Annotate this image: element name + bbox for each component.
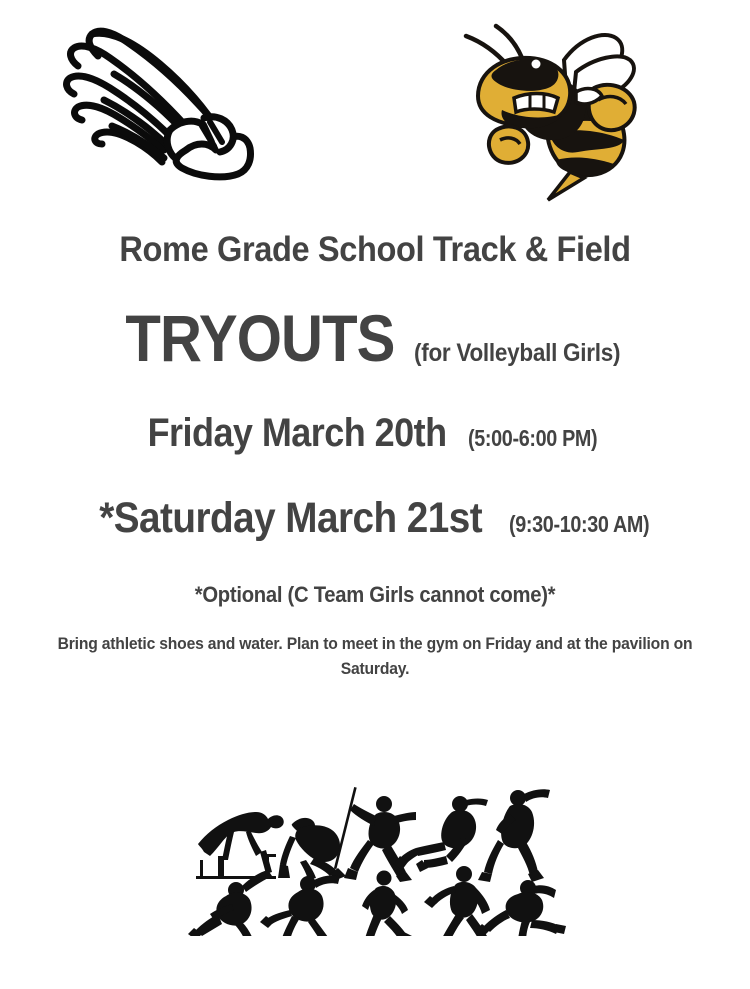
winged-foot-icon bbox=[52, 22, 288, 182]
athlete-silhouettes bbox=[188, 768, 568, 936]
hornet-mascot-icon bbox=[444, 14, 660, 204]
date-label-saturday: *Saturday March 21st bbox=[100, 497, 483, 540]
silhouette-sprinter-drive bbox=[260, 875, 340, 936]
date-entry-saturday: *Saturday March 21st(9:30-10:30 AM) bbox=[0, 497, 750, 540]
flyer-text-block: Rome Grade School Track & Field TRYOUTS(… bbox=[0, 232, 750, 683]
instructions-note: Bring athletic shoes and water. Plan to … bbox=[47, 632, 703, 683]
tryouts-heading: TRYOUTS(for Volleyball Girls) bbox=[0, 305, 750, 371]
silhouette-sprinter-start bbox=[188, 870, 272, 936]
silhouette-long-jumper bbox=[394, 796, 488, 872]
date-time-friday: (5:00-6:00 PM) bbox=[468, 427, 597, 450]
silhouette-long-jump-landing bbox=[476, 880, 566, 936]
silhouette-hurdler bbox=[196, 812, 284, 879]
silhouette-shot-putter bbox=[478, 789, 550, 882]
logo-row bbox=[0, 0, 750, 210]
flyer-page: Rome Grade School Track & Field TRYOUTS(… bbox=[0, 0, 750, 989]
page-title: Rome Grade School Track & Field bbox=[26, 232, 724, 269]
date-label-friday: Friday March 20th bbox=[148, 413, 447, 453]
tryouts-label: TRYOUTS bbox=[125, 305, 394, 371]
tryouts-qualifier: (for Volleyball Girls) bbox=[414, 341, 620, 366]
date-entry-friday: Friday March 20th(5:00-6:00 PM) bbox=[0, 413, 750, 453]
silhouette-crouch-start bbox=[278, 818, 346, 880]
optional-note: *Optional (C Team Girls cannot come)* bbox=[30, 584, 720, 606]
date-time-saturday: (9:30-10:30 AM) bbox=[509, 513, 649, 536]
